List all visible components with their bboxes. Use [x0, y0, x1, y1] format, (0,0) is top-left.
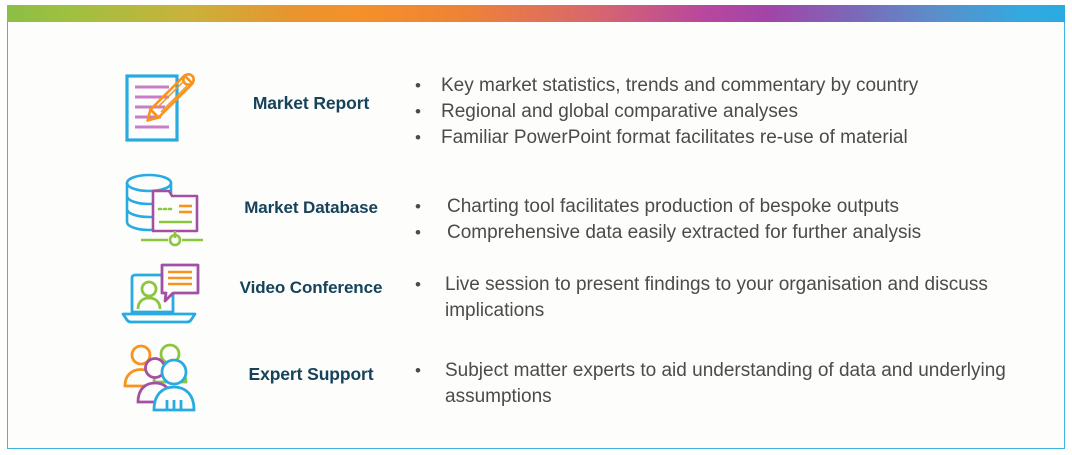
laptop-speech-bubble-icon — [113, 262, 205, 330]
feature-row-market-database: Market Database • Charting tool facilita… — [7, 170, 1065, 248]
bullet-marker: • — [415, 194, 447, 220]
bullet-item: • Comprehensive data easily extracted fo… — [415, 220, 1065, 246]
feature-list: Market Report • Key market statistics, t… — [7, 22, 1065, 449]
feature-label-market-report: Market Report — [213, 66, 409, 114]
bullet-text: Regional and global comparative analyses — [441, 99, 1065, 125]
bullet-text: Live session to present findings to your… — [445, 272, 1065, 324]
bullet-item: • Familiar PowerPoint format facilitates… — [415, 125, 1065, 151]
icon-cell-video-conference — [7, 262, 213, 330]
bullet-list-expert-support: • Subject matter experts to aid understa… — [409, 342, 1065, 410]
bullet-item: • Charting tool facilitates production o… — [415, 194, 1065, 220]
bullet-item: • Key market statistics, trends and comm… — [415, 73, 1065, 99]
bullet-marker: • — [415, 358, 445, 384]
document-pencil-icon — [113, 66, 205, 148]
bullet-marker: • — [415, 73, 441, 99]
bullet-text: Key market statistics, trends and commen… — [441, 73, 1065, 99]
feature-label-video-conference: Video Conference — [213, 262, 409, 298]
bullet-marker: • — [415, 220, 447, 246]
bullet-text: Charting tool facilitates production of … — [447, 194, 1065, 220]
bullet-text: Familiar PowerPoint format facilitates r… — [441, 125, 1065, 151]
bullet-item: • Regional and global comparative analys… — [415, 99, 1065, 125]
bullet-list-market-report: • Key market statistics, trends and comm… — [409, 66, 1065, 152]
feature-row-expert-support: Expert Support • Subject matter experts … — [7, 342, 1065, 414]
bullet-marker: • — [415, 125, 441, 151]
bullet-list-market-database: • Charting tool facilitates production o… — [409, 170, 1065, 246]
feature-label-market-database: Market Database — [213, 170, 409, 218]
slide-canvas: Market Report • Key market statistics, t… — [0, 0, 1072, 455]
bullet-text: Subject matter experts to aid understand… — [445, 358, 1065, 410]
bullet-marker: • — [415, 272, 445, 298]
people-group-icon — [113, 342, 205, 414]
icon-cell-market-report — [7, 66, 213, 148]
icon-cell-market-database — [7, 170, 213, 248]
bullet-item: • Live session to present findings to yo… — [415, 272, 1065, 324]
feature-row-market-report: Market Report • Key market statistics, t… — [7, 66, 1065, 152]
top-gradient-bar — [7, 5, 1065, 22]
bullet-marker: • — [415, 99, 441, 125]
feature-label-expert-support: Expert Support — [213, 342, 409, 385]
feature-row-video-conference: Video Conference • Live session to prese… — [7, 262, 1065, 330]
database-folder-icon — [113, 170, 205, 248]
bullet-item: • Subject matter experts to aid understa… — [415, 358, 1065, 410]
bullet-list-video-conference: • Live session to present findings to yo… — [409, 262, 1065, 324]
icon-cell-expert-support — [7, 342, 213, 414]
bullet-text: Comprehensive data easily extracted for … — [447, 220, 1065, 246]
